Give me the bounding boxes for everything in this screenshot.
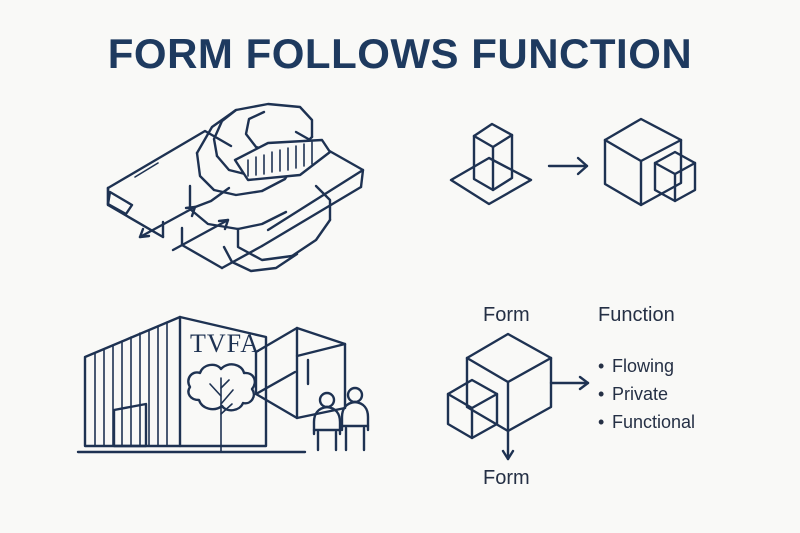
- form-cube-small: [448, 380, 497, 438]
- label-form-top: Form: [483, 303, 530, 327]
- list-item: •Private: [598, 380, 695, 408]
- list-item-label: Private: [612, 384, 668, 404]
- arrow-to-form: [503, 431, 513, 459]
- label-form-bottom: Form: [483, 466, 530, 490]
- list-item-label: Flowing: [612, 356, 674, 376]
- form-function-diagram: [0, 0, 800, 533]
- form-cube-large: [467, 334, 551, 431]
- list-item: •Functional: [598, 408, 695, 436]
- arrow-to-function: [551, 377, 588, 389]
- poster-canvas: FORM FOLLOWS FUNCTION: [0, 0, 800, 533]
- bullet-marker-icon: •: [598, 380, 612, 408]
- label-function: Function: [598, 303, 675, 327]
- bullet-marker-icon: •: [598, 408, 612, 436]
- function-qualities-list: •Flowing •Private •Functional: [598, 352, 695, 436]
- bullet-marker-icon: •: [598, 352, 612, 380]
- list-item: •Flowing: [598, 352, 695, 380]
- list-item-label: Functional: [612, 412, 695, 432]
